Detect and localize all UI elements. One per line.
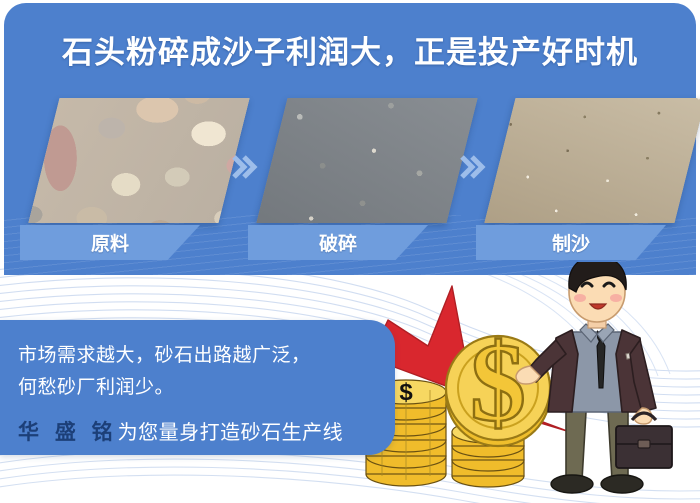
process-step-label: 原料 (20, 225, 200, 260)
brand-name: 华 盛 铭 (18, 421, 118, 444)
copy-line-2: 何愁砂厂利润少。 (18, 372, 174, 399)
process-flow: 原料 破碎 制沙 (0, 98, 700, 258)
process-step[interactable] (44, 98, 234, 223)
copy-panel: 市场需求越大，砂石出路越广泛， 何愁砂厂利润少。 华 盛 铭为您量身打造砂石生产… (0, 320, 395, 455)
brand-tagline: 为您量身打造砂石生产线 (118, 422, 344, 444)
double-chevron-right-icon (460, 154, 486, 180)
crushed-gravel-photo (256, 98, 477, 223)
double-chevron-right-icon (232, 154, 258, 180)
brand-line: 华 盛 铭为您量身打造砂石生产线 (18, 416, 343, 446)
copy-line-1: 市场需求越大，砂石出路越广泛， (18, 340, 311, 367)
page-title: 石头粉碎成沙子利润大，正是投产好时机 (4, 27, 696, 72)
process-step[interactable] (272, 98, 462, 223)
promotional-banner: 石头粉碎成沙子利润大，正是投产好时机 原料 破碎 (0, 0, 700, 503)
manufactured-sand-photo (484, 98, 700, 223)
process-step[interactable] (500, 98, 690, 223)
businessman-with-briefcase-icon (516, 262, 672, 493)
svg-text:$: $ (470, 321, 526, 445)
process-step-label: 破碎 (248, 225, 428, 260)
business-illustration: $ $ (360, 262, 700, 503)
svg-text:$: $ (399, 379, 413, 406)
river-pebbles-photo (28, 98, 249, 223)
process-step-label: 制沙 (476, 225, 666, 260)
